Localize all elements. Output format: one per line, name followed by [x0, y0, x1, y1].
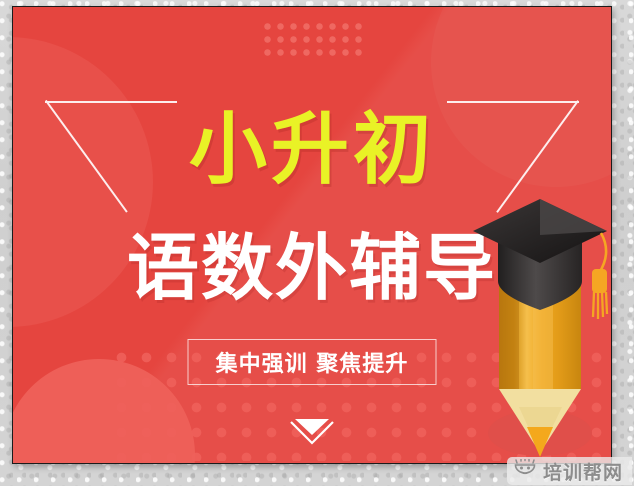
sun-face-icon	[514, 459, 536, 484]
decor-top-dot-grid	[259, 18, 363, 58]
bracket-right-horizontal-rule	[447, 101, 579, 103]
banner-tagline-text: 集中强训 聚焦提升	[216, 346, 409, 378]
banner-headline-primary: 小升初	[13, 111, 611, 189]
site-watermark: 培训帮网	[507, 457, 632, 485]
chevron-down-icon-svg	[282, 411, 342, 449]
graduation-cap-pencil-illustration	[441, 195, 609, 463]
bracket-left-horizontal-rule	[45, 101, 177, 103]
tassel-knot	[592, 269, 607, 293]
chevron-down-icon[interactable]	[282, 411, 342, 449]
banner-tagline-box: 集中强训 聚焦提升	[188, 339, 437, 385]
watermark-label: 培训帮网	[543, 458, 623, 485]
tassel-cord	[599, 233, 606, 273]
page-background: 小升初 语数外辅导 集中强训 聚焦提升	[0, 0, 634, 486]
graduation-cap	[473, 199, 607, 319]
promotional-banner: 小升初 语数外辅导 集中强训 聚焦提升	[12, 6, 612, 464]
tassel-fringe	[593, 292, 607, 319]
sun-face-icon-svg	[514, 459, 536, 479]
graduation-cap-pencil-svg	[441, 195, 609, 463]
